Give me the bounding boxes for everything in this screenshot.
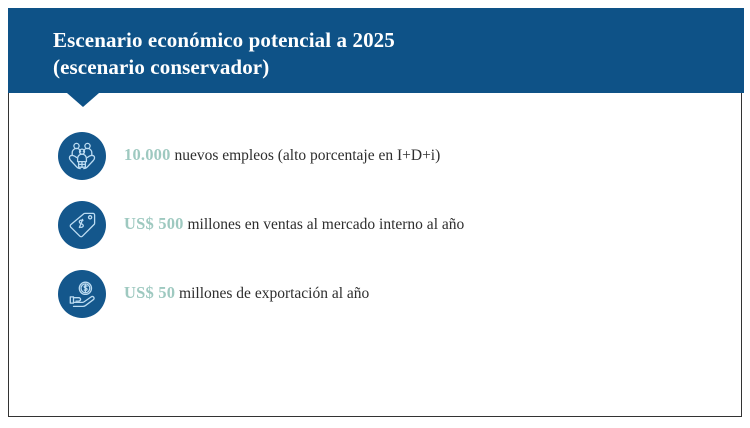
slide-frame: Escenario económico potencial a 2025 (es… [8,9,742,417]
list-item: US$ 50 millones de exportación al año [9,259,743,328]
header-banner: Escenario económico potencial a 2025 (es… [8,8,744,93]
list-item: 10.000 nuevos empleos (alto porcentaje e… [9,121,743,190]
list-item-text: 10.000 nuevos empleos (alto porcentaje e… [124,145,743,166]
list-item-text: US$ 500 millones en ventas al mercado in… [124,214,743,235]
list-item-description: millones de exportación al año [175,285,369,302]
hand-holding-coin-icon [58,270,106,318]
list-item-highlight: 10.000 [124,145,171,164]
list-item-text: US$ 50 millones de exportación al año [124,283,743,304]
banner-pointer-triangle [67,93,99,107]
bullet-list: 10.000 nuevos empleos (alto porcentaje e… [9,121,743,328]
list-item: US$ 500 millones en ventas al mercado in… [9,190,743,259]
price-tag-dollar-icon [58,201,106,249]
list-item-description: nuevos empleos (alto porcentaje en I+D+i… [171,147,441,164]
family-in-hands-icon [58,132,106,180]
list-item-highlight: US$ 50 [124,283,175,302]
list-item-description: millones en ventas al mercado interno al… [184,216,465,233]
list-item-highlight: US$ 500 [124,214,184,233]
page-title: Escenario económico potencial a 2025 (es… [53,27,693,81]
